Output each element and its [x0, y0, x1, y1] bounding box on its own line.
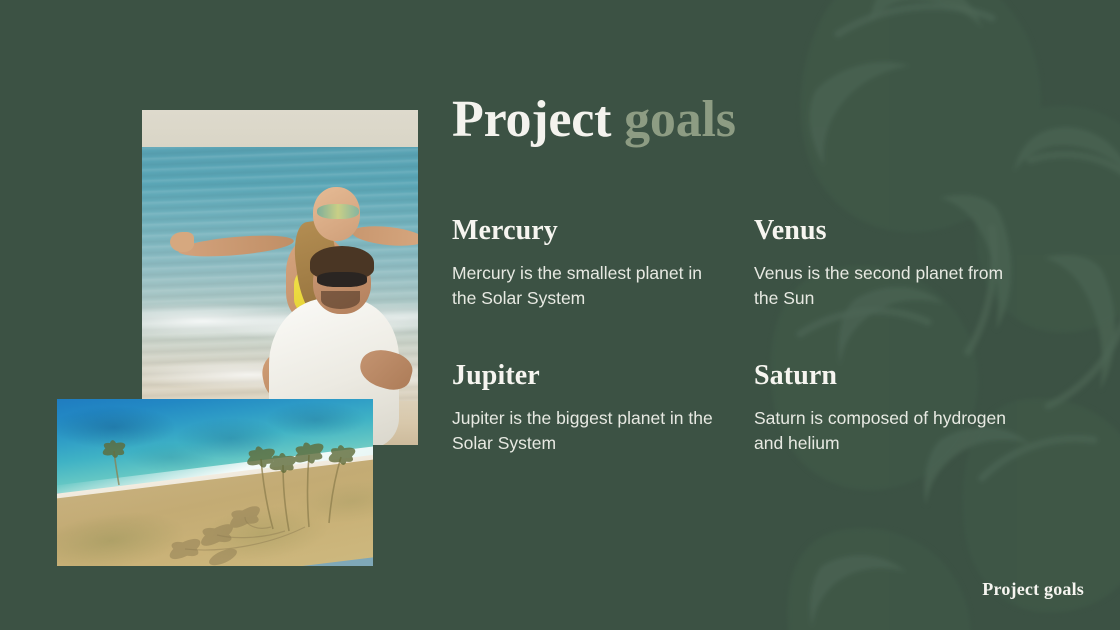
item-body: Jupiter is the biggest planet in the Sol… [452, 406, 727, 457]
item-heading: Saturn [754, 359, 1056, 393]
item-heading: Venus [754, 214, 1056, 248]
slide: Project goals Mercury Mercury is the sma… [0, 0, 1120, 630]
couple-beach-photo [142, 110, 418, 445]
woman-left-hand [170, 232, 195, 252]
item-heading: Mercury [452, 214, 754, 248]
content-item-saturn: Saturn Saturn is composed of hydrogen an… [754, 359, 1056, 456]
item-heading: Jupiter [452, 359, 754, 393]
man-sunglasses [317, 272, 367, 286]
content-grid: Mercury Mercury is the smallest planet i… [452, 214, 1072, 457]
page-title: Project goals [452, 91, 736, 148]
title-main: Project [452, 91, 624, 148]
photo-sky [142, 110, 418, 147]
title-accent: goals [624, 91, 736, 148]
content-row: Mercury Mercury is the smallest planet i… [452, 214, 1072, 311]
aerial-beach-photo [57, 399, 373, 566]
palm-trees [57, 399, 373, 566]
slide-footer: Project goals [982, 579, 1084, 600]
item-body: Venus is the second planet from the Sun [754, 261, 1029, 312]
item-body: Mercury is the smallest planet in the So… [452, 261, 727, 312]
content-item-jupiter: Jupiter Jupiter is the biggest planet in… [452, 359, 754, 456]
content-row: Jupiter Jupiter is the biggest planet in… [452, 359, 1072, 456]
item-body: Saturn is composed of hydrogen and heliu… [754, 406, 1029, 457]
content-item-mercury: Mercury Mercury is the smallest planet i… [452, 214, 754, 311]
woman-sunglasses [317, 204, 358, 219]
content-item-venus: Venus Venus is the second planet from th… [754, 214, 1056, 311]
